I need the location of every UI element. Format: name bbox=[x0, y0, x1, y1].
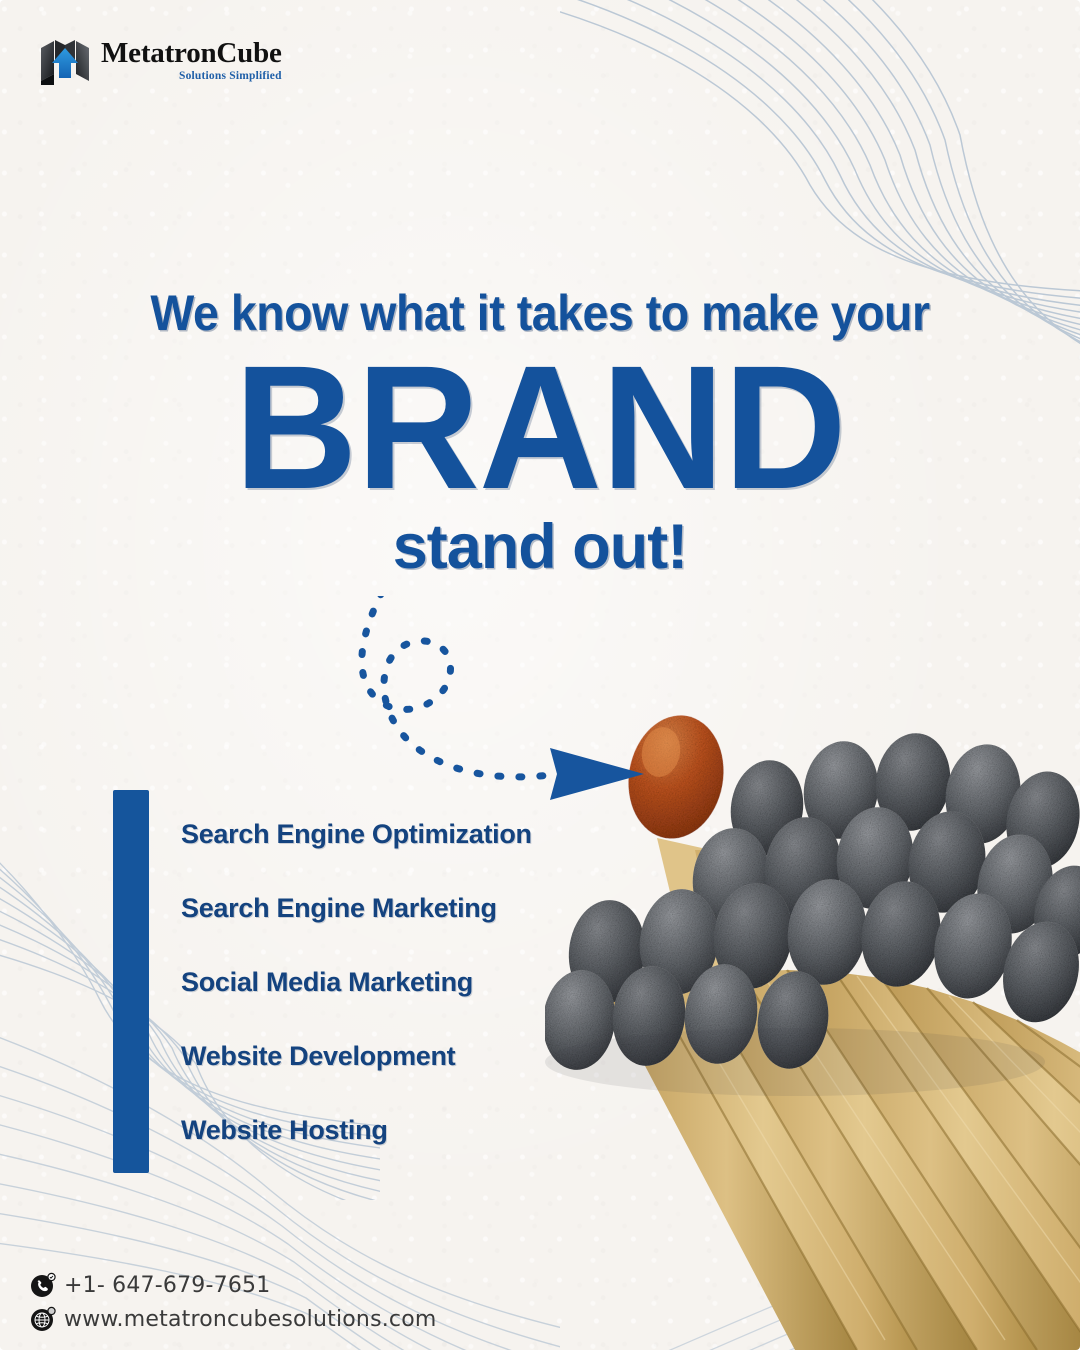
contact-phone[interactable]: +1- 647-679-7651 bbox=[30, 1272, 437, 1298]
footer-contacts: +1- 647-679-7651 www.metatroncubesolutio… bbox=[30, 1272, 437, 1332]
phone-number: +1- 647-679-7651 bbox=[64, 1273, 270, 1298]
services-list: Search Engine Optimization Search Engine… bbox=[113, 790, 532, 1173]
social-post-canvas: MetatronCube Solutions Simplified We kno… bbox=[0, 0, 1080, 1350]
cube-arrow-up-icon bbox=[38, 36, 92, 86]
list-item[interactable]: Search Engine Marketing bbox=[149, 895, 532, 921]
list-item[interactable]: Search Engine Optimization bbox=[149, 821, 532, 847]
list-item-label: Social Media Marketing bbox=[181, 967, 473, 998]
headline-brand-word: BRAND bbox=[16, 348, 1064, 510]
list-item-label: Search Engine Marketing bbox=[181, 893, 497, 924]
brand-logo[interactable]: MetatronCube Solutions Simplified bbox=[38, 36, 282, 86]
list-spacer bbox=[149, 1069, 532, 1117]
services-accent-bar bbox=[113, 790, 149, 1173]
website-url: www.metatroncubesolutions.com bbox=[64, 1307, 437, 1332]
headline-block: We know what it takes to make your BRAND… bbox=[0, 288, 1080, 579]
brand-tagline: Solutions Simplified bbox=[101, 71, 282, 83]
list-item-label: Website Development bbox=[181, 1041, 455, 1072]
list-spacer bbox=[149, 921, 532, 969]
list-item-label: Website Hosting bbox=[181, 1115, 388, 1146]
brand-logo-text: MetatronCube Solutions Simplified bbox=[101, 39, 282, 83]
list-item-label: Search Engine Optimization bbox=[181, 819, 532, 850]
services-items: Search Engine Optimization Search Engine… bbox=[149, 790, 532, 1173]
globe-www-icon bbox=[30, 1306, 56, 1332]
contact-website[interactable]: www.metatroncubesolutions.com bbox=[30, 1306, 437, 1332]
list-item[interactable]: Social Media Marketing bbox=[149, 969, 532, 995]
list-spacer bbox=[149, 995, 532, 1043]
list-spacer bbox=[149, 847, 532, 895]
phone-call-icon bbox=[30, 1272, 56, 1298]
list-item[interactable]: Website Hosting bbox=[149, 1117, 532, 1143]
list-item[interactable]: Website Development bbox=[149, 1043, 532, 1069]
brand-name: MetatronCube bbox=[101, 39, 282, 68]
